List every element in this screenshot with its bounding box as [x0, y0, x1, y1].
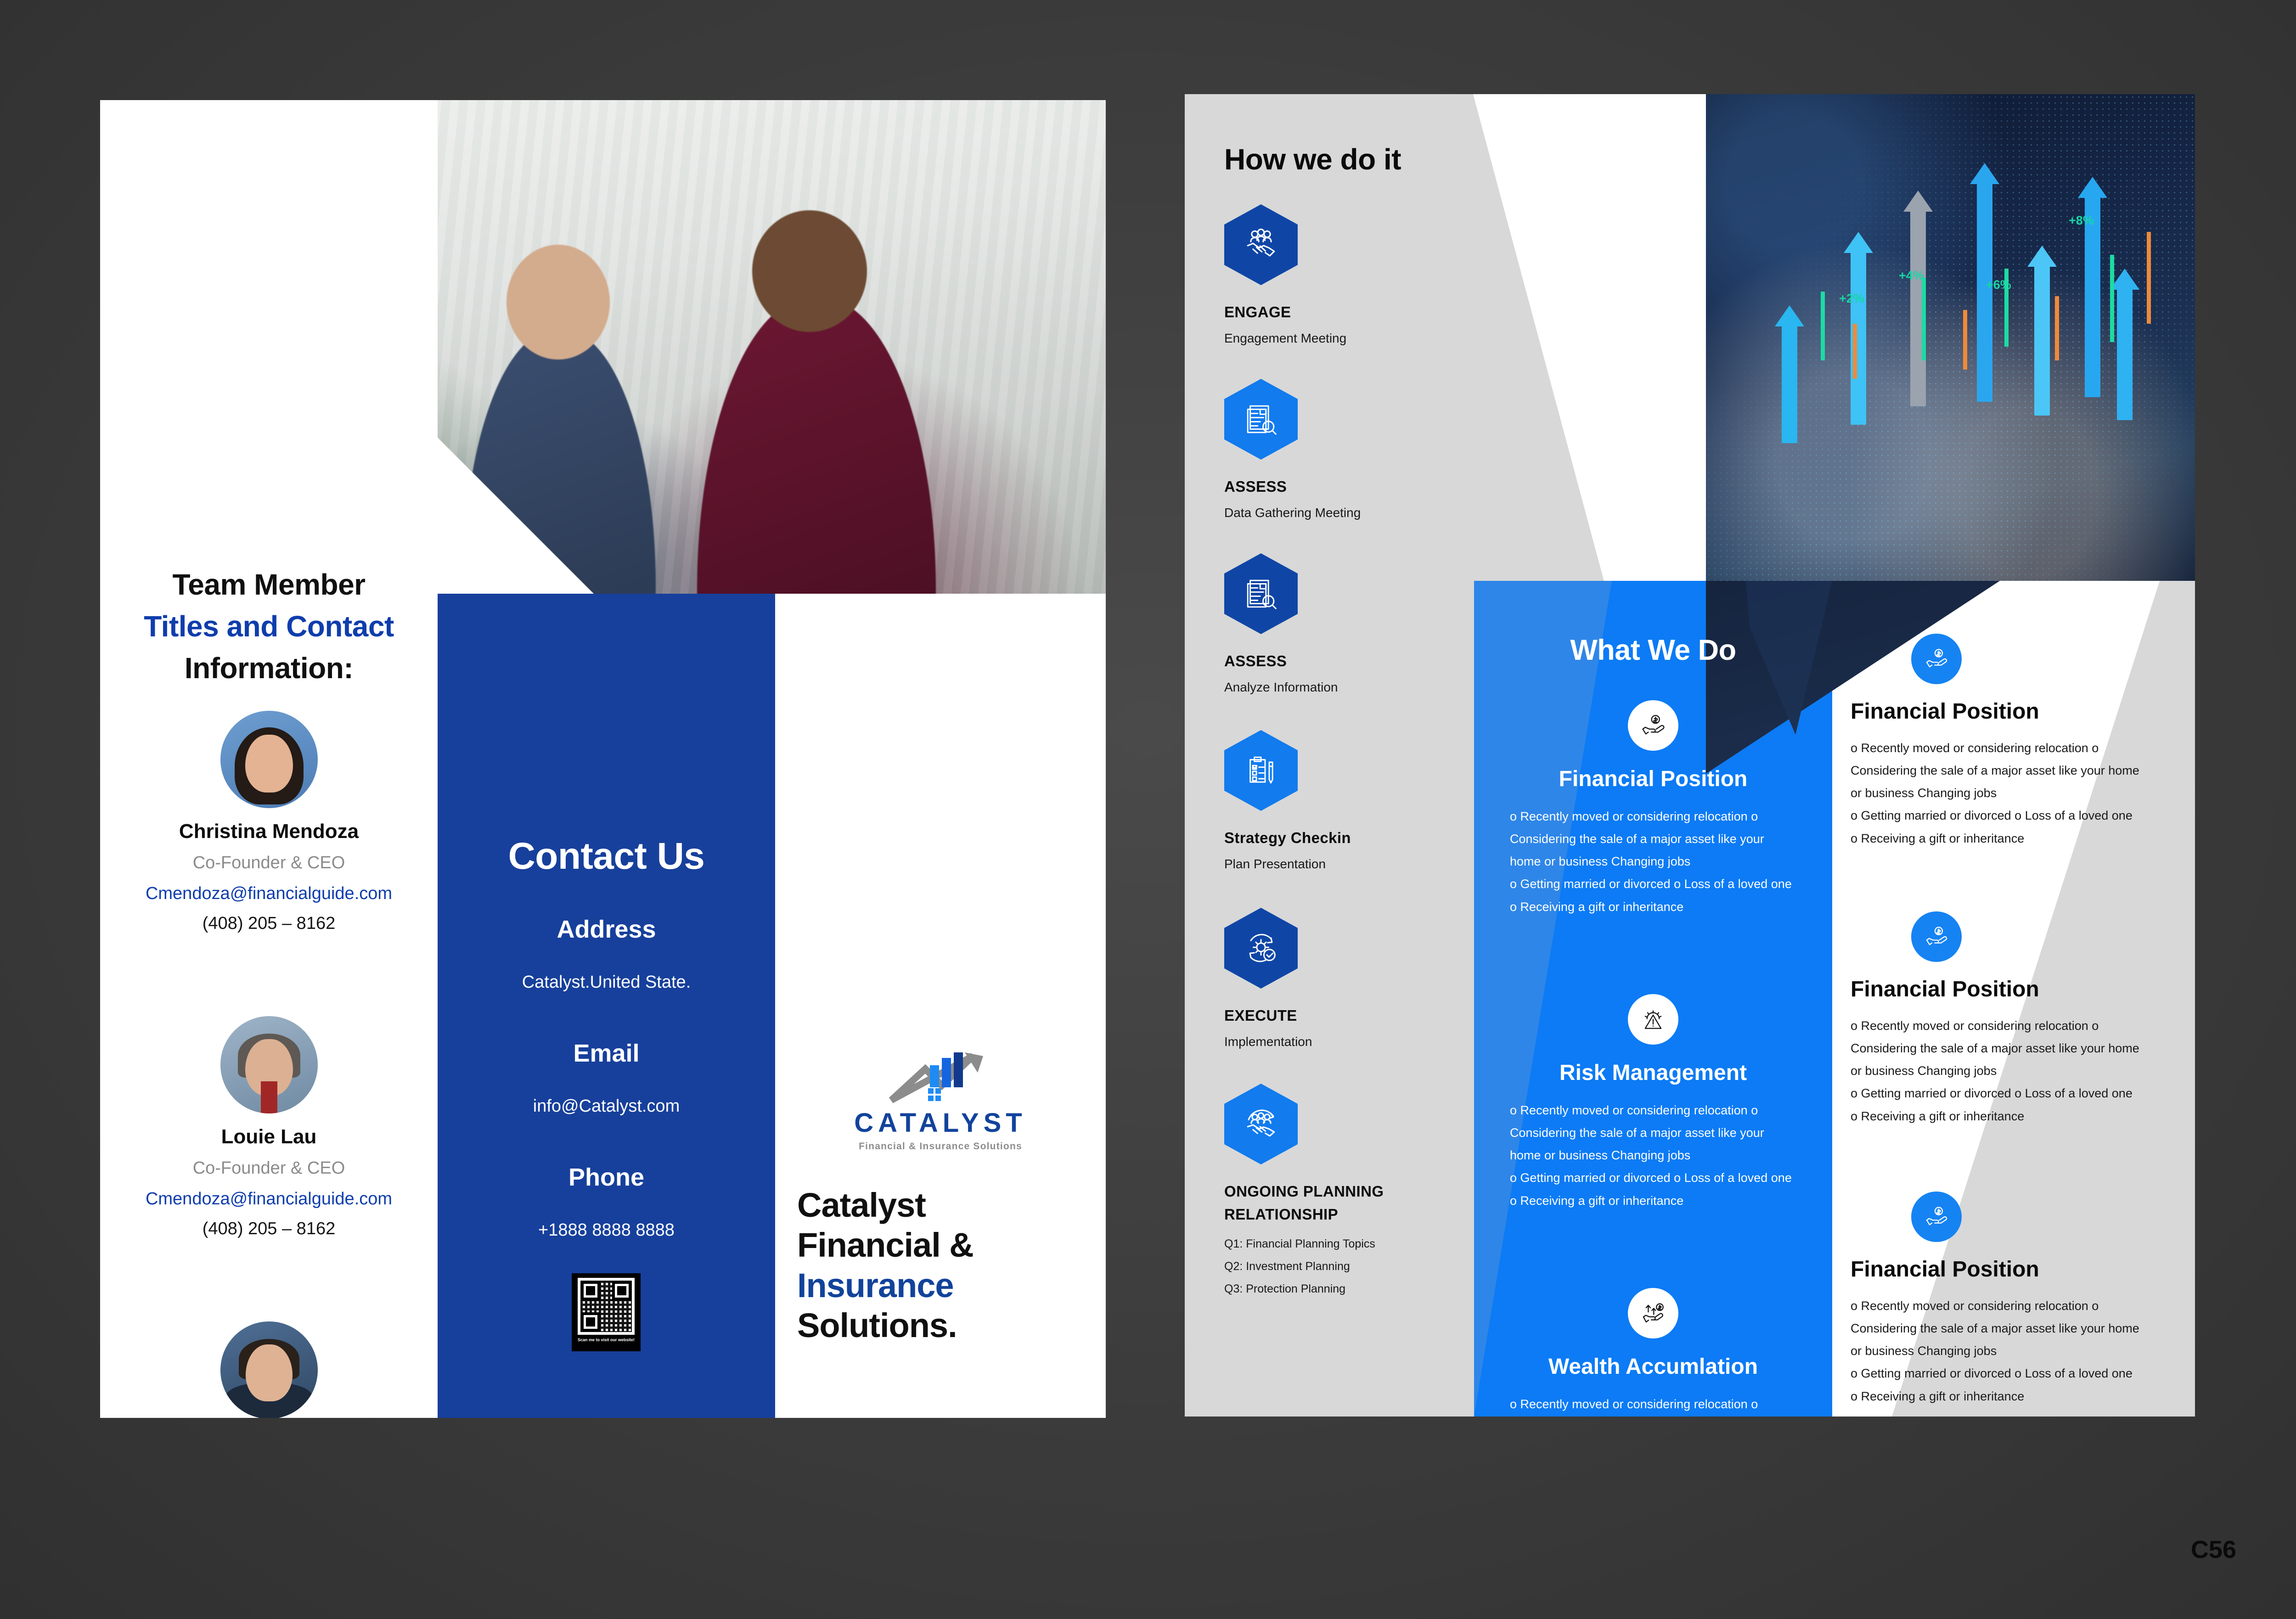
- info-card-financial-position-2: Financial Position o Recently moved or c…: [1851, 911, 2154, 1128]
- hero-annotation: +8%: [2069, 214, 2094, 228]
- hand-coin-icon: [1911, 1192, 1962, 1242]
- info-card-title: Financial Position: [1851, 977, 2154, 1002]
- step-subtitle: Engagement Meeting: [1224, 331, 1463, 346]
- member-phone: (408) 205 – 8162: [100, 914, 438, 933]
- member-email[interactable]: Cmendoza@financialguide.com: [100, 1189, 438, 1209]
- service-card-body: o Recently moved or considering relocati…: [1474, 805, 1832, 918]
- email-value[interactable]: info@Catalyst.com: [438, 1096, 775, 1116]
- phone-value: +1888 8888 8888: [438, 1220, 775, 1240]
- title-line-1: Team Member: [100, 564, 438, 606]
- member-name: Christina Mendoza: [100, 820, 438, 843]
- service-card-title: Wealth Accumlation: [1474, 1354, 1832, 1379]
- hand-coin-icon: [1628, 700, 1678, 751]
- hero-annotation: +4%: [1899, 269, 1924, 283]
- up-arrow-icon: [1903, 191, 1933, 406]
- headline-line-3: Insurance: [797, 1265, 1106, 1305]
- member-role: Co-Founder & CEO: [100, 1158, 438, 1178]
- process-step-execute: EXECUTE Implementation: [1224, 908, 1463, 1049]
- brochure-stage: Team Member Titles and Contact Informati…: [0, 0, 2296, 1619]
- service-card-title: Risk Management: [1474, 1060, 1832, 1085]
- qr-code-icon: [578, 1278, 635, 1335]
- step-title: ENGAGE: [1224, 301, 1463, 324]
- contact-us-title: Contact Us: [438, 835, 775, 878]
- up-arrow-icon: [2110, 269, 2139, 420]
- info-card-financial-position-1: Financial Position o Recently moved or c…: [1851, 634, 2154, 850]
- brand-block: CATALYST Financial & Insurance Solutions…: [775, 1046, 1106, 1345]
- warning-gear-icon: [1628, 994, 1678, 1045]
- clipboard-pencil-icon: [1224, 730, 1298, 811]
- handshake-cycle-icon: [1224, 1084, 1298, 1164]
- qr-code-block[interactable]: Scan me to visit our website!: [572, 1273, 641, 1351]
- hand-coin-icon: [1911, 911, 1962, 962]
- phone-label: Phone: [438, 1163, 775, 1192]
- step-subtitle: Analyze Information: [1224, 680, 1463, 695]
- coins-growth-chart-photo: +2% +4% +6% +8%: [1706, 94, 2195, 581]
- service-card-body: o Recently moved or considering relocati…: [1474, 1393, 1832, 1417]
- catalyst-logo-icon: [883, 1046, 998, 1105]
- up-arrow-icon: [2078, 177, 2107, 397]
- process-step-engage: ENGAGE Engagement Meeting: [1224, 204, 1463, 346]
- quarter-item: Q1: Financial Planning Topics: [1224, 1233, 1463, 1255]
- step-title: Strategy Checkin: [1224, 826, 1463, 849]
- headline-line-4: Solutions.: [797, 1305, 1106, 1345]
- up-arrow-icon: [1844, 232, 1873, 425]
- quarter-item: Q2: Investment Planning: [1224, 1255, 1463, 1278]
- team-member-card: Robert Couse Co-Founder & CEO Cmendoza@f…: [100, 1321, 438, 1418]
- step-title: ONGOING PLANNING RELATIONSHIP: [1224, 1180, 1463, 1225]
- page-one: Team Member Titles and Contact Informati…: [100, 100, 1106, 1418]
- document-search-icon: [1224, 553, 1298, 634]
- up-arrow-icon: [2027, 246, 2057, 416]
- service-card-title: Financial Position: [1474, 766, 1832, 792]
- service-card-financial-position: Financial Position o Recently moved or c…: [1474, 700, 1832, 918]
- step-title: ASSESS: [1224, 475, 1463, 498]
- info-card-title: Financial Position: [1851, 699, 2154, 724]
- address-value: Catalyst.United State.: [438, 973, 775, 992]
- what-we-do-title: What We Do: [1474, 634, 1832, 667]
- info-card-body: o Recently moved or considering relocati…: [1851, 1295, 2154, 1408]
- info-card-body: o Recently moved or considering relocati…: [1851, 737, 2154, 850]
- qr-caption: Scan me to visit our website!: [578, 1338, 635, 1343]
- process-step-assess-1: ASSESS Data Gathering Meeting: [1224, 379, 1463, 520]
- design-code-label: C56: [2191, 1535, 2236, 1564]
- headline-line-2: Financial &: [797, 1225, 1106, 1265]
- title-line-3: Information:: [100, 647, 438, 689]
- quarter-item: Q3: Protection Planning: [1224, 1278, 1463, 1300]
- team-member-card: Christina Mendoza Co-Founder & CEO Cmend…: [100, 711, 438, 933]
- step-title: ASSESS: [1224, 650, 1463, 673]
- logo-wordmark: CATALYST: [775, 1107, 1106, 1138]
- step-subtitle: Data Gathering Meeting: [1224, 506, 1463, 520]
- process-step-strategy-checkin: Strategy Checkin Plan Presentation: [1224, 730, 1463, 871]
- avatar: [220, 1016, 318, 1113]
- team-member-card: Louie Lau Co-Founder & CEO Cmendoza@fina…: [100, 1016, 438, 1239]
- info-card-financial-position-3: Financial Position o Recently moved or c…: [1851, 1192, 2154, 1408]
- step-subtitle: Implementation: [1224, 1034, 1463, 1049]
- member-email[interactable]: Cmendoza@financialguide.com: [100, 884, 438, 904]
- growth-hand-icon: [1628, 1288, 1678, 1338]
- process-step-assess-2: ASSESS Analyze Information: [1224, 553, 1463, 695]
- avatar: [220, 1321, 318, 1418]
- member-phone: (408) 205 – 8162: [100, 1219, 438, 1239]
- up-arrow-icon: [1775, 305, 1804, 443]
- logo-tagline: Financial & Insurance Solutions: [775, 1141, 1106, 1152]
- hand-coin-icon: [1911, 634, 1962, 684]
- hero-annotation: +2%: [1839, 292, 1864, 306]
- avatar: [220, 711, 318, 808]
- info-card-title: Financial Position: [1851, 1257, 2154, 1282]
- handshake-team-icon: [1224, 204, 1298, 285]
- how-we-do-it-title: How we do it: [1224, 142, 1401, 176]
- page-title: Team Member Titles and Contact Informati…: [100, 564, 438, 689]
- page-two: +2% +4% +6% +8% How we do it: [1185, 94, 2195, 1417]
- document-search-icon: [1224, 379, 1298, 460]
- member-name: Louie Lau: [100, 1125, 438, 1148]
- info-card-body: o Recently moved or considering relocati…: [1851, 1015, 2154, 1128]
- service-card-risk-management: Risk Management o Recently moved or cons…: [1474, 994, 1832, 1212]
- member-role: Co-Founder & CEO: [100, 853, 438, 873]
- gear-check-icon: [1224, 908, 1298, 989]
- step-title: EXECUTE: [1224, 1004, 1463, 1027]
- address-label: Address: [438, 915, 775, 944]
- step-quarters: Q1: Financial Planning Topics Q2: Invest…: [1224, 1233, 1463, 1300]
- title-line-2: Titles and Contact: [100, 606, 438, 647]
- email-label: Email: [438, 1039, 775, 1068]
- process-step-ongoing-planning: ONGOING PLANNING RELATIONSHIP Q1: Financ…: [1224, 1084, 1463, 1300]
- headline-line-1: Catalyst: [797, 1185, 1106, 1225]
- step-subtitle: Plan Presentation: [1224, 857, 1463, 871]
- service-card-body: o Recently moved or considering relocati…: [1474, 1099, 1832, 1212]
- service-card-wealth-accumulation: Wealth Accumlation o Recently moved or c…: [1474, 1288, 1832, 1417]
- brand-headline: Catalyst Financial & Insurance Solutions…: [775, 1185, 1106, 1345]
